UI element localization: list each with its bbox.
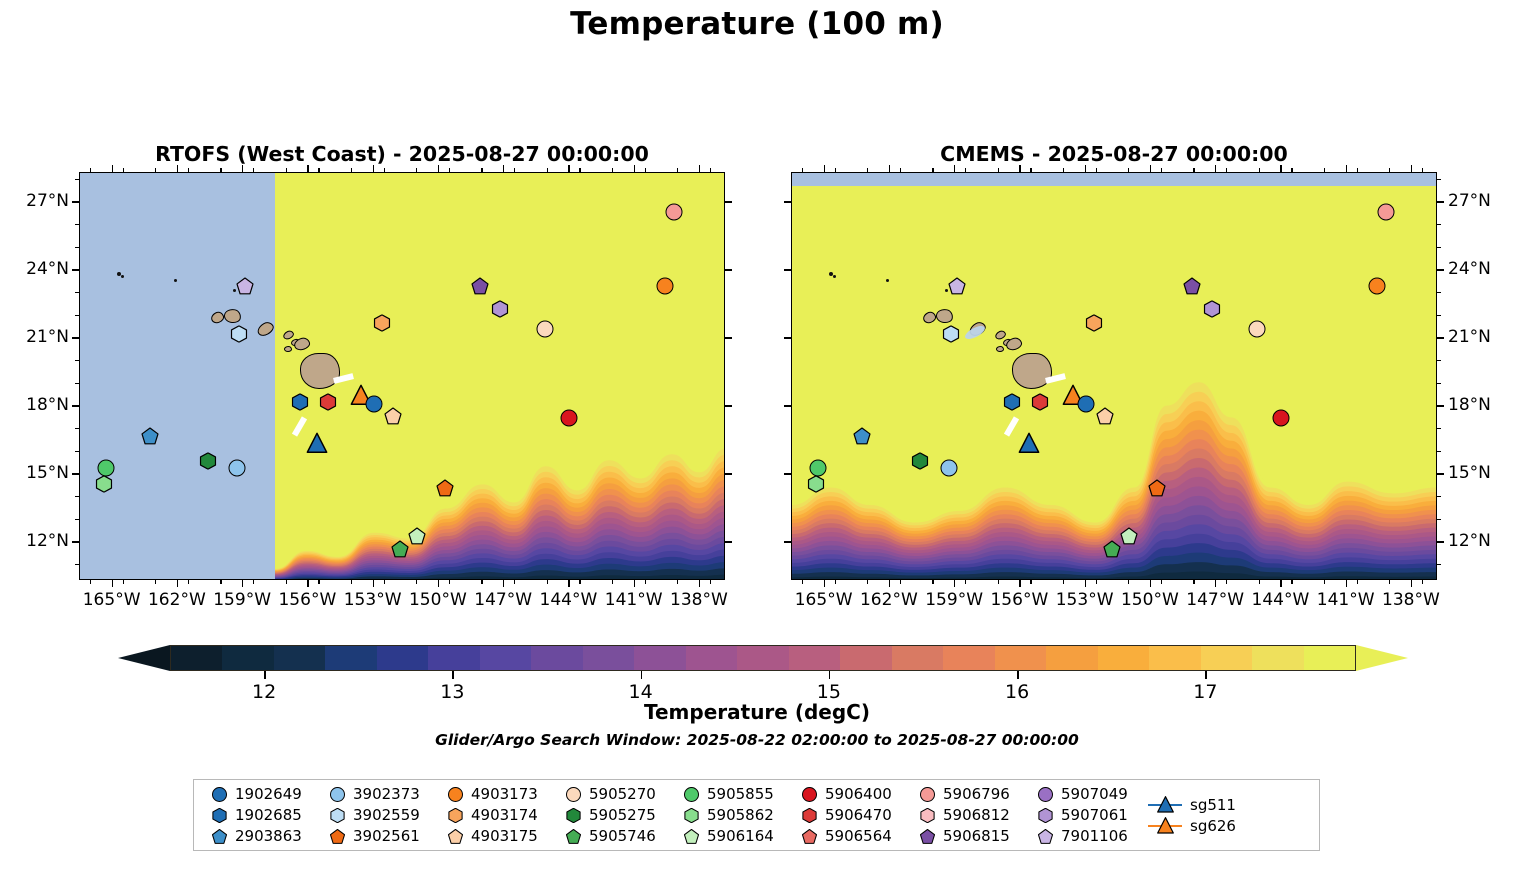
x-axis-minor-tick: [318, 580, 319, 584]
x-axis-minor-tick: [1422, 168, 1423, 172]
x-axis-minor-tick: [1063, 168, 1064, 172]
colorbar: 121314151617: [118, 645, 1408, 671]
colorbar-band: [943, 646, 994, 670]
colorbar-tick: [264, 671, 266, 679]
x-axis-tick-top: [177, 165, 178, 172]
marker-tri-icon: [1157, 817, 1174, 834]
legend-item[interactable]: 5906815: [912, 826, 1030, 847]
x-axis-minor-tick: [1161, 580, 1162, 584]
x-axis-tick: [503, 580, 504, 587]
marker-hexa-icon: [684, 808, 699, 823]
x-axis-minor-tick: [1291, 168, 1292, 172]
y-axis-tick-inner: [784, 405, 791, 406]
x-axis-minor-tick: [677, 168, 678, 172]
y-axis-tick: [72, 405, 79, 406]
x-axis-minor-tick: [220, 580, 221, 584]
x-axis-minor-tick: [351, 168, 352, 172]
y-axis-tick-inner: [784, 201, 791, 202]
y-axis-tick-label: 12°N: [7, 531, 69, 551]
x-axis-minor-tick: [286, 580, 287, 584]
legend-item-label: 5905275: [589, 806, 656, 824]
y-axis-tick-inner: [725, 201, 732, 202]
marker-hexa-icon: [920, 808, 935, 823]
legend-glider-line: [1148, 794, 1182, 815]
x-axis-minor-tick: [155, 580, 156, 584]
legend-item-label: 3902561: [353, 827, 420, 845]
y-axis-minor-tick: [1437, 224, 1441, 225]
x-axis-tick-label: 156°W: [278, 590, 336, 610]
x-axis-tick: [1411, 580, 1412, 587]
x-axis-tick-top: [1085, 165, 1086, 172]
y-axis-tick: [1437, 541, 1444, 542]
y-axis-minor-tick: [1437, 360, 1441, 361]
y-axis-minor-tick: [75, 564, 79, 565]
x-axis-minor-tick: [1096, 580, 1097, 584]
x-axis-minor-tick: [932, 168, 933, 172]
x-axis-tick-label: 162°W: [148, 590, 206, 610]
y-axis-tick: [72, 269, 79, 270]
x-axis-minor-tick: [351, 580, 352, 584]
x-axis-minor-tick: [253, 168, 254, 172]
x-axis-minor-tick: [1357, 580, 1358, 584]
x-axis-minor-tick: [481, 168, 482, 172]
x-axis-minor-tick: [384, 168, 385, 172]
marker-circle-icon: [566, 787, 581, 802]
x-axis-minor-tick: [900, 168, 901, 172]
x-axis-minor-tick: [1324, 168, 1325, 172]
x-axis-tick: [1346, 580, 1347, 587]
x-axis-minor-tick: [835, 580, 836, 584]
legend-column: 4903173 4903174 4903175: [440, 780, 558, 850]
x-axis-minor-tick: [645, 580, 646, 584]
x-axis-tick: [112, 580, 113, 587]
x-axis-tick-top: [1215, 165, 1216, 172]
x-axis-tick-label: 150°W: [409, 590, 467, 610]
y-axis-tick-label: 15°N: [7, 463, 69, 483]
colorbar-band: [789, 646, 840, 670]
marker-penta-icon: [448, 829, 463, 844]
marker-hexa-icon: [448, 808, 463, 823]
legend-item-label: 7901106: [1061, 827, 1128, 845]
y-axis-tick-label: 18°N: [1448, 395, 1491, 415]
x-axis-minor-tick: [286, 168, 287, 172]
y-axis-minor-tick: [1437, 292, 1441, 293]
legend-item[interactable]: 5907061: [1030, 805, 1148, 826]
x-axis-tick: [242, 580, 243, 587]
x-axis-tick: [1280, 580, 1281, 587]
legend-item-label: 5905862: [707, 806, 774, 824]
colorbar-band: [634, 646, 685, 670]
x-axis-minor-tick: [1422, 580, 1423, 584]
x-axis-tick-label: 159°W: [213, 590, 271, 610]
x-axis-minor-tick: [1389, 168, 1390, 172]
y-axis-minor-tick: [75, 383, 79, 384]
x-axis-minor-tick: [677, 580, 678, 584]
x-axis-tick-label: 165°W: [83, 590, 141, 610]
colorbar-title: Temperature (degC): [0, 700, 1514, 724]
page-title: Temperature (100 m): [0, 6, 1514, 42]
x-axis-minor-tick: [998, 168, 999, 172]
legend-item-label: 2903863: [235, 827, 302, 845]
x-axis-minor-tick: [998, 580, 999, 584]
marker-penta-icon: [684, 829, 699, 844]
legend-item-label: 5906564: [825, 827, 892, 845]
colorbar-band: [531, 646, 582, 670]
x-axis-tick: [634, 580, 635, 587]
x-axis-minor-tick: [1357, 168, 1358, 172]
marker-hexa-icon: [802, 808, 817, 823]
marker-circle-icon: [212, 787, 227, 802]
legend-item[interactable]: 5905862: [676, 805, 794, 826]
y-axis-tick-label: 15°N: [1448, 463, 1491, 483]
legend-item-label: sg626: [1190, 817, 1236, 835]
legend-item[interactable]: 5907049: [1030, 784, 1148, 805]
x-axis-tick-top: [112, 165, 113, 172]
y-axis-tick-inner: [725, 337, 732, 338]
x-axis-tick-top: [568, 165, 569, 172]
legend-item-label: 3902559: [353, 806, 420, 824]
y-axis-minor-tick: [1437, 519, 1441, 520]
y-axis-minor-tick: [1437, 451, 1441, 452]
legend-item[interactable]: 5905855: [676, 784, 794, 805]
y-axis-minor-tick: [75, 292, 79, 293]
figure: Temperature (100 m) RTOFS (West Coast) -…: [0, 0, 1514, 889]
search-window-caption: Glider/Argo Search Window: 2025-08-22 02…: [0, 731, 1514, 749]
x-axis-minor-tick: [1096, 168, 1097, 172]
x-axis-tick-top: [1411, 165, 1412, 172]
marker-circle-icon: [448, 787, 463, 802]
legend-item[interactable]: 4903175: [440, 826, 558, 847]
legend-item-label: 5907049: [1061, 785, 1128, 803]
colorbar-band: [1046, 646, 1097, 670]
x-axis-minor-tick: [481, 580, 482, 584]
colorbar-band: [274, 646, 325, 670]
legend-column: 1902649 1902685 2903863: [204, 780, 322, 850]
x-axis-minor-tick: [1030, 580, 1031, 584]
x-axis-tick-top: [824, 165, 825, 172]
y-axis-tick: [1437, 337, 1444, 338]
x-axis-minor-tick: [220, 168, 221, 172]
legend-item-label: 5906815: [943, 827, 1010, 845]
legend-item[interactable]: sg511: [1148, 794, 1258, 815]
x-axis-tick: [1085, 580, 1086, 587]
x-axis-minor-tick: [965, 580, 966, 584]
marker-penta-icon: [566, 829, 581, 844]
x-axis-tick-top: [954, 165, 955, 172]
legend-item[interactable]: 5906400: [794, 784, 912, 805]
colorbar-tick: [829, 671, 831, 679]
x-axis-tick: [438, 580, 439, 587]
y-axis-tick-label: 18°N: [7, 395, 69, 415]
x-axis-minor-tick: [123, 168, 124, 172]
x-axis-tick: [1150, 580, 1151, 587]
x-axis-minor-tick: [1389, 580, 1390, 584]
legend: 1902649 1902685 29038633902373 3902559 3…: [193, 779, 1320, 851]
colorbar-tick: [641, 671, 643, 679]
legend-item[interactable]: 3902561: [322, 826, 440, 847]
marker-penta-icon: [802, 829, 817, 844]
y-axis-tick-label: 24°N: [1448, 259, 1491, 279]
x-axis-minor-tick: [547, 168, 548, 172]
x-axis-minor-tick: [416, 580, 417, 584]
x-axis-minor-tick: [1161, 168, 1162, 172]
y-axis-tick-label: 27°N: [7, 191, 69, 211]
colorbar-band: [325, 646, 376, 670]
legend-item[interactable]: 5906564: [794, 826, 912, 847]
legend-column: 5906400 5906470 5906564: [794, 780, 912, 850]
panel-cmems: CMEMS - 2025-08-27 00:00:00 165°W162°W15…: [791, 172, 1437, 580]
x-axis-minor-tick: [188, 168, 189, 172]
legend-column: sg511 sg626: [1148, 780, 1258, 850]
legend-item[interactable]: sg626: [1148, 815, 1258, 836]
x-axis-minor-tick: [123, 580, 124, 584]
panel-cmems-title: CMEMS - 2025-08-27 00:00:00: [791, 142, 1437, 166]
x-axis-tick: [889, 580, 890, 587]
legend-item-label: 5906796: [943, 785, 1010, 803]
y-axis-tick-inner: [725, 405, 732, 406]
colorbar-band: [737, 646, 788, 670]
marker-penta-icon: [212, 829, 227, 844]
x-axis-tick-label: 144°W: [540, 590, 598, 610]
legend-item[interactable]: 7901106: [1030, 826, 1148, 847]
legend-item-label: 4903173: [471, 785, 538, 803]
legend-item-label: 5905746: [589, 827, 656, 845]
x-axis-tick: [568, 580, 569, 587]
colorbar-gradient: [170, 645, 1356, 671]
x-axis-minor-tick: [867, 168, 868, 172]
x-axis-tick-top: [438, 165, 439, 172]
x-axis-tick: [373, 580, 374, 587]
legend-item[interactable]: 5905275: [558, 805, 676, 826]
x-axis-tick-top: [1346, 165, 1347, 172]
legend-item-label: 5907061: [1061, 806, 1128, 824]
legend-item-label: 4903175: [471, 827, 538, 845]
legend-item-label: 5906400: [825, 785, 892, 803]
marker-hexa-icon: [330, 808, 345, 823]
legend-item-label: 3902373: [353, 785, 420, 803]
y-axis-tick-inner: [784, 473, 791, 474]
x-axis-tick: [307, 580, 308, 587]
marker-circle-icon: [920, 787, 935, 802]
x-axis-tick: [699, 580, 700, 587]
x-axis-minor-tick: [514, 580, 515, 584]
colorbar-band: [1252, 646, 1303, 670]
x-axis-minor-tick: [645, 168, 646, 172]
colorbar-band: [1098, 646, 1149, 670]
x-axis-minor-tick: [318, 168, 319, 172]
x-axis-tick: [1215, 580, 1216, 587]
x-axis-minor-tick: [155, 168, 156, 172]
colorbar-band: [428, 646, 479, 670]
y-axis-tick: [1437, 269, 1444, 270]
x-axis-tick-label: 144°W: [1252, 590, 1310, 610]
x-axis-tick-top: [242, 165, 243, 172]
x-axis-minor-tick: [547, 580, 548, 584]
legend-item-label: 5905270: [589, 785, 656, 803]
y-axis-minor-tick: [75, 179, 79, 180]
y-axis-tick: [1437, 405, 1444, 406]
legend-column: 5905270 5905275 5905746: [558, 780, 676, 850]
y-axis-tick-label: 21°N: [1448, 327, 1491, 347]
x-axis-minor-tick: [579, 168, 580, 172]
x-axis-tick-label: 162°W: [860, 590, 918, 610]
x-axis-minor-tick: [1291, 580, 1292, 584]
y-axis-minor-tick: [75, 519, 79, 520]
legend-item[interactable]: 5906796: [912, 784, 1030, 805]
x-axis-minor-tick: [514, 168, 515, 172]
y-axis-minor-tick: [75, 247, 79, 248]
legend-item[interactable]: 1902649: [204, 784, 322, 805]
x-axis-tick: [1019, 580, 1020, 587]
axis-ticks-cmems: 165°W162°W159°W156°W153°W150°W147°W144°W…: [791, 172, 1437, 580]
x-axis-tick: [177, 580, 178, 587]
x-axis-minor-tick: [1193, 580, 1194, 584]
x-axis-minor-tick: [835, 168, 836, 172]
y-axis-minor-tick: [1437, 315, 1441, 316]
x-axis-minor-tick: [188, 580, 189, 584]
marker-hexa-icon: [566, 808, 581, 823]
colorbar-band: [583, 646, 634, 670]
x-axis-minor-tick: [1259, 580, 1260, 584]
colorbar-band: [1201, 646, 1252, 670]
y-axis-tick: [72, 541, 79, 542]
x-axis-minor-tick: [867, 580, 868, 584]
y-axis-minor-tick: [75, 451, 79, 452]
x-axis-minor-tick: [802, 168, 803, 172]
x-axis-tick-label: 153°W: [344, 590, 402, 610]
y-axis-tick: [72, 201, 79, 202]
x-axis-tick-top: [503, 165, 504, 172]
x-axis-minor-tick: [1128, 168, 1129, 172]
marker-hexa-icon: [1038, 808, 1053, 823]
y-axis-minor-tick: [1437, 247, 1441, 248]
x-axis-tick-label: 141°W: [1317, 590, 1375, 610]
x-axis-tick-label: 159°W: [925, 590, 983, 610]
legend-item-label: 1902649: [235, 785, 302, 803]
y-axis-tick-inner: [784, 337, 791, 338]
legend-item[interactable]: 4903173: [440, 784, 558, 805]
x-axis-tick-top: [1019, 165, 1020, 172]
y-axis-tick: [72, 337, 79, 338]
legend-column: 5906796 5906812 5906815: [912, 780, 1030, 850]
x-axis-tick-label: 141°W: [605, 590, 663, 610]
legend-item[interactable]: 3902559: [322, 805, 440, 826]
x-axis-tick-label: 147°W: [474, 590, 532, 610]
x-axis-minor-tick: [1226, 580, 1227, 584]
panel-rtofs-title: RTOFS (West Coast) - 2025-08-27 00:00:00: [79, 142, 725, 166]
marker-circle-icon: [330, 787, 345, 802]
colorbar-band: [686, 646, 737, 670]
legend-item[interactable]: 3902373: [322, 784, 440, 805]
x-axis-minor-tick: [1063, 580, 1064, 584]
x-axis-minor-tick: [449, 168, 450, 172]
x-axis-tick-top: [373, 165, 374, 172]
x-axis-tick-top: [1150, 165, 1151, 172]
marker-circle-icon: [1038, 787, 1053, 802]
y-axis-tick-label: 21°N: [7, 327, 69, 347]
y-axis-minor-tick: [1437, 179, 1441, 180]
x-axis-minor-tick: [1030, 168, 1031, 172]
legend-item[interactable]: 5906812: [912, 805, 1030, 826]
y-axis-minor-tick: [1437, 428, 1441, 429]
y-axis-minor-tick: [75, 315, 79, 316]
legend-item[interactable]: 5906470: [794, 805, 912, 826]
legend-item[interactable]: 5905746: [558, 826, 676, 847]
colorbar-band: [840, 646, 891, 670]
legend-item[interactable]: 1902685: [204, 805, 322, 826]
x-axis-minor-tick: [384, 580, 385, 584]
y-axis-tick-inner: [784, 541, 791, 542]
colorbar-extend-min: [118, 645, 170, 671]
y-axis-minor-tick: [75, 428, 79, 429]
x-axis-minor-tick: [1226, 168, 1227, 172]
legend-item-label: 4903174: [471, 806, 538, 824]
y-axis-minor-tick: [75, 496, 79, 497]
x-axis-minor-tick: [1193, 168, 1194, 172]
y-axis-tick-label: 24°N: [7, 259, 69, 279]
x-axis-minor-tick: [449, 580, 450, 584]
colorbar-band: [1149, 646, 1200, 670]
colorbar-tick: [1205, 671, 1207, 679]
legend-item[interactable]: 2903863: [204, 826, 322, 847]
legend-item[interactable]: 4903174: [440, 805, 558, 826]
x-axis-minor-tick: [579, 580, 580, 584]
x-axis-tick-top: [634, 165, 635, 172]
x-axis-tick-label: 138°W: [1382, 590, 1440, 610]
marker-circle-icon: [802, 787, 817, 802]
marker-hexa-icon: [212, 808, 227, 823]
x-axis-tick: [954, 580, 955, 587]
marker-penta-icon: [920, 829, 935, 844]
legend-column: 5907049 5907061 7901106: [1030, 780, 1148, 850]
x-axis-minor-tick: [612, 168, 613, 172]
y-axis-tick: [1437, 473, 1444, 474]
x-axis-minor-tick: [90, 168, 91, 172]
x-axis-minor-tick: [710, 580, 711, 584]
x-axis-tick-top: [1280, 165, 1281, 172]
colorbar-band: [480, 646, 531, 670]
x-axis-tick-label: 150°W: [1121, 590, 1179, 610]
legend-item-label: 1902685: [235, 806, 302, 824]
y-axis-minor-tick: [1437, 496, 1441, 497]
x-axis-tick-top: [307, 165, 308, 172]
x-axis-tick-label: 147°W: [1186, 590, 1244, 610]
y-axis-tick: [1437, 201, 1444, 202]
panel-rtofs: RTOFS (West Coast) - 2025-08-27 00:00:00…: [79, 172, 725, 580]
legend-item[interactable]: 5905270: [558, 784, 676, 805]
marker-penta-icon: [330, 829, 345, 844]
colorbar-band: [222, 646, 273, 670]
y-axis-tick-inner: [784, 269, 791, 270]
x-axis-minor-tick: [965, 168, 966, 172]
legend-item[interactable]: 5906164: [676, 826, 794, 847]
x-axis-minor-tick: [1128, 580, 1129, 584]
colorbar-band: [892, 646, 943, 670]
x-axis-minor-tick: [802, 580, 803, 584]
y-axis-minor-tick: [75, 224, 79, 225]
marker-tri-icon: [1157, 796, 1174, 813]
x-axis-minor-tick: [710, 168, 711, 172]
axis-ticks-rtofs: 165°W162°W159°W156°W153°W150°W147°W144°W…: [79, 172, 725, 580]
marker-circle-icon: [684, 787, 699, 802]
legend-item-label: 5906164: [707, 827, 774, 845]
x-axis-tick-label: 138°W: [670, 590, 728, 610]
x-axis-minor-tick: [1324, 580, 1325, 584]
y-axis-tick-inner: [725, 269, 732, 270]
x-axis-minor-tick: [253, 580, 254, 584]
legend-column: 5905855 5905862 5906164: [676, 780, 794, 850]
colorbar-tick: [452, 671, 454, 679]
